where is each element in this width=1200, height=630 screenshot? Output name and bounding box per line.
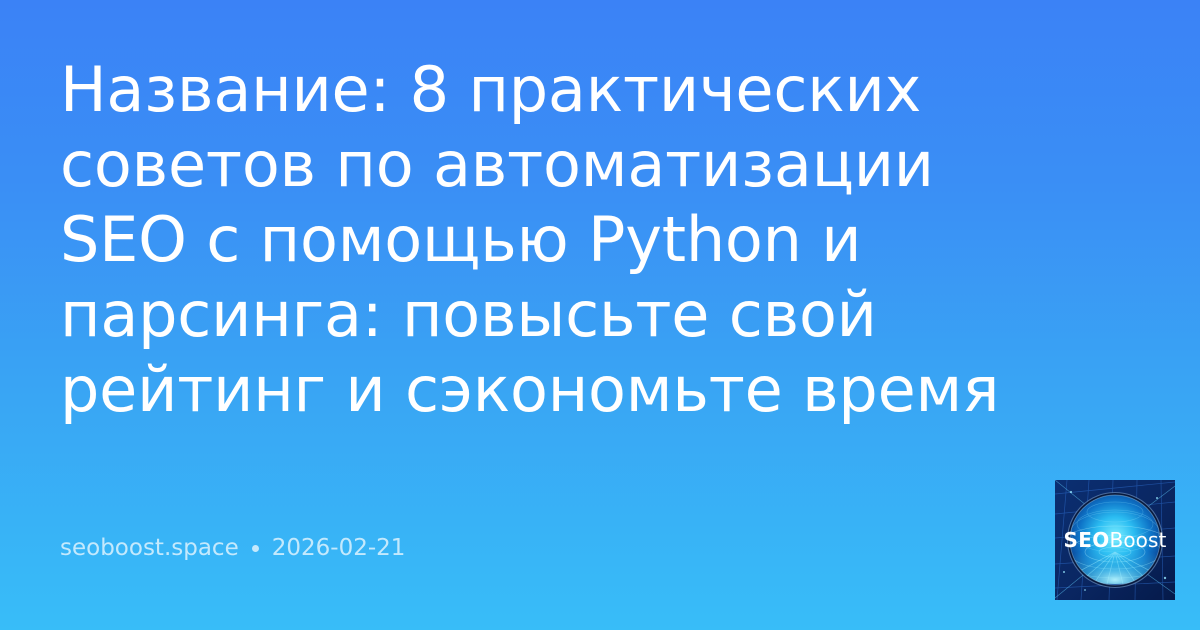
brand-logo: SEOBoost <box>1055 480 1175 600</box>
site-domain: seoboost.space <box>60 534 239 562</box>
brand-wordmark: SEOBoost <box>1064 528 1167 552</box>
brand-wordmark-secondary: Boost <box>1110 528 1167 552</box>
meta-line: seoboost.space 2026-02-21 <box>60 534 405 562</box>
brand-wordmark-primary: SEO <box>1064 528 1110 552</box>
og-card: Название: 8 практических советов по авто… <box>0 0 1200 630</box>
brand-logo-graphic: SEOBoost <box>1055 480 1175 600</box>
meta-separator-dot <box>252 545 259 552</box>
page-title: Название: 8 практических советов по авто… <box>60 52 1020 427</box>
publish-date: 2026-02-21 <box>272 534 406 562</box>
